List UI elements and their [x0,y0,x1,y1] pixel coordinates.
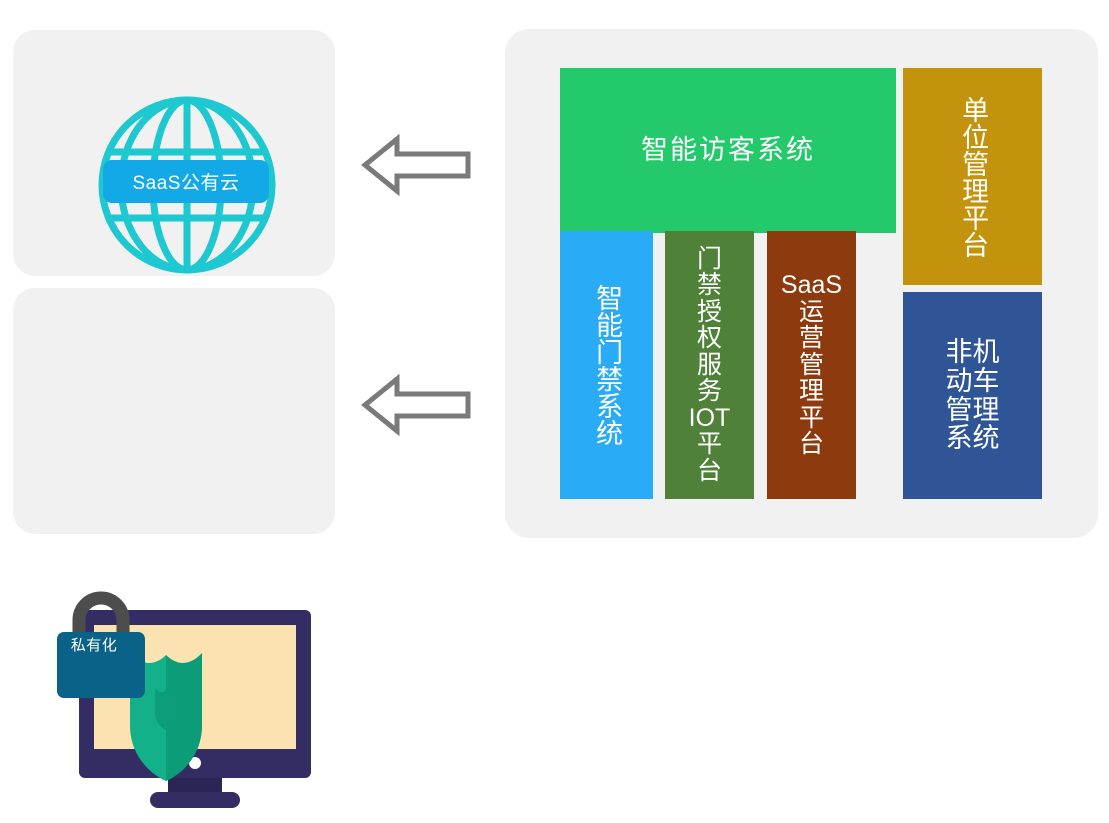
box-unit-management-platform[interactable]: 单位管理平台 [903,68,1042,285]
line: 授 [697,299,722,326]
line: SaaS [781,272,842,299]
box-nonmotor-lines: 非机 动车 管理 系统 [946,338,1000,452]
line: IOT [689,405,731,432]
line: 管 [799,352,824,379]
line: 禁 [697,272,722,299]
globe-icon: SaaS公有云 [96,94,278,276]
padlock-icon-svg [49,580,169,700]
line: 台 [697,458,722,485]
box-visitor-system[interactable]: 智能访客系统 [560,68,896,233]
box-saas-operation-management-platform[interactable]: SaaS 运 营 管 理 平 台 [767,231,856,499]
cloud-badge: SaaS公有云 [103,160,269,203]
arrow-left-icon [360,134,472,196]
line: 平 [697,431,722,458]
platform-panel: 智能访客系统 单位管理平台 非机 动车 管理 系统 智能门禁系统 门 禁 授 权… [505,29,1098,538]
line: 权 [697,325,722,352]
line: 理 [799,378,824,405]
diagram-canvas: SaaS公有云 [0,0,1109,582]
line: 门 [697,246,722,273]
line: 务 [697,378,722,405]
box-iot-lines: 门 禁 授 权 服 务 IOT 平 台 [689,246,731,485]
line: 动车 [946,367,1000,396]
line: 非机 [946,338,1000,367]
line: 平 [799,405,824,432]
cloud-card[interactable]: SaaS公有云 [13,30,335,276]
box-access-authorization-iot-platform[interactable]: 门 禁 授 权 服 务 IOT 平 台 [665,231,754,499]
arrow-to-private [360,374,472,436]
line: 管理 [946,396,1000,425]
padlock-icon [49,580,169,700]
box-saas-lines: SaaS 运 营 管 理 平 台 [781,272,842,458]
box-smart-access-control-system[interactable]: 智能门禁系统 [560,231,653,499]
line: 系统 [946,424,1000,453]
arrow-left-icon [360,374,472,436]
arrow-to-cloud [360,134,472,196]
box-nonmotor-vehicle-system[interactable]: 非机 动车 管理 系统 [903,292,1042,499]
private-deployment-card[interactable]: 私有化 [13,288,335,534]
line: 营 [799,325,824,352]
line: 运 [799,299,824,326]
line: 台 [799,431,824,458]
line: 服 [697,352,722,379]
